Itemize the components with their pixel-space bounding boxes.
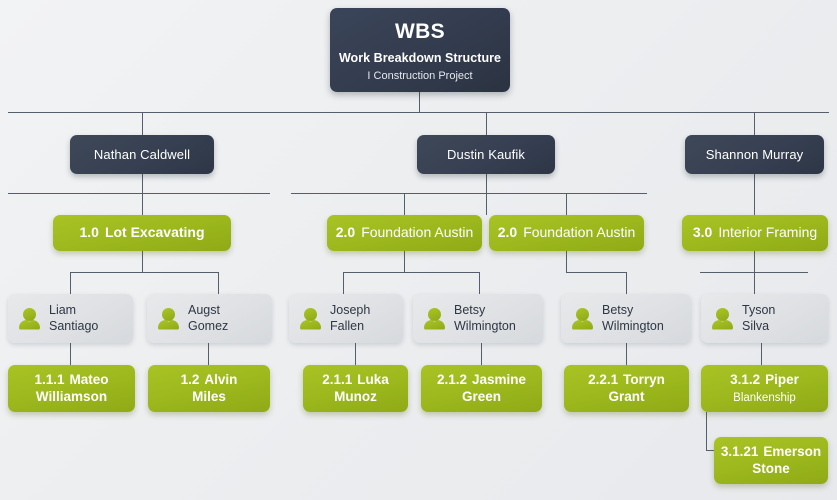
person-first-name: Betsy — [602, 303, 633, 317]
manager-name: Shannon Murray — [706, 147, 804, 163]
person-last-name: Wilmington — [602, 319, 664, 333]
task-text: 3.1.2Piper Blankenship — [730, 372, 799, 405]
person-name: Tyson Silva — [742, 303, 775, 334]
connector-person-bus-4 — [700, 272, 808, 273]
connector-person-to-task-4 — [481, 343, 482, 365]
phase-code: 2.0 — [498, 224, 517, 241]
node-manager-nathan-caldwell[interactable]: Nathan Caldwell — [70, 135, 214, 174]
task-last-name: Grant — [608, 389, 644, 404]
task-text: 2.1.2Jasmine Green — [437, 372, 526, 405]
connector-root-stem — [419, 92, 420, 113]
connector-person-bus-3 — [566, 272, 626, 273]
connector-person-bus-2 — [343, 272, 479, 273]
connector-drop-person-3 — [343, 272, 344, 294]
task-text: 3.1.21Emerson Stone — [721, 444, 821, 477]
task-first-name: Luka — [357, 372, 389, 387]
task-first-name: Alvin — [204, 372, 237, 387]
person-first-name: Augst — [188, 303, 220, 317]
task-first-name: Mateo — [70, 372, 109, 387]
person-first-name: Betsy — [454, 303, 485, 317]
phase-label: Foundation Austin — [361, 224, 473, 241]
node-phase-foundation-austin-1[interactable]: 2.0 Foundation Austin — [327, 215, 482, 251]
task-text: 1.2Alvin Miles — [181, 372, 238, 405]
root-caption: I Construction Project — [367, 70, 472, 83]
node-manager-dustin-kaufik[interactable]: Dustin Kaufik — [417, 135, 555, 174]
connector-level1-bus — [8, 112, 829, 113]
connector-drop-phase-3 — [566, 193, 567, 215]
card-person-betsy-wilmington-1[interactable]: Betsy Wilmington — [413, 294, 543, 343]
connector-drop-manager-3 — [754, 112, 755, 135]
task-first-name: Piper — [765, 372, 799, 387]
person-name: Liam Santiago — [49, 303, 98, 334]
root-subtitle: Work Breakdown Structure — [339, 51, 501, 66]
node-root-wbs[interactable]: WBS Work Breakdown Structure I Construct… — [330, 8, 510, 92]
connector-stem-manager-2 — [486, 174, 487, 215]
task-first-name: Jasmine — [472, 372, 526, 387]
task-code: 3.1.2 — [730, 372, 760, 387]
connector-drop-manager-2 — [486, 112, 487, 135]
person-first-name: Joseph — [330, 303, 370, 317]
person-name: Augst Gomez — [188, 303, 228, 334]
node-task-alvin-miles[interactable]: 1.2Alvin Miles — [148, 365, 270, 412]
task-text: 2.2.1Torryn Grant — [588, 372, 665, 405]
connector-drop-person-5 — [626, 272, 627, 294]
connector-stem-phase-3 — [566, 251, 567, 272]
person-last-name: Wilmington — [454, 319, 516, 333]
connector-stem-manager-1 — [142, 174, 143, 215]
person-avatar-icon — [19, 308, 40, 330]
node-phase-interior-framing[interactable]: 3.0 Interior Framing — [682, 215, 828, 251]
connector-stem-phase-1 — [142, 251, 143, 272]
task-code: 2.1.2 — [437, 372, 467, 387]
task-last-name: Williamson — [36, 389, 107, 404]
person-avatar-icon — [572, 308, 593, 330]
connector-stem-manager-3 — [754, 174, 755, 215]
phase-label: Interior Framing — [718, 224, 817, 241]
node-task-luka-munoz[interactable]: 2.1.1Luka Munoz — [303, 365, 408, 412]
task-last-name: Stone — [752, 461, 790, 476]
task-text: 2.1.1Luka Munoz — [322, 372, 389, 405]
task-code: 1.2 — [181, 372, 200, 387]
connector-person-bus-1 — [70, 272, 218, 273]
node-phase-foundation-austin-2[interactable]: 2.0 Foundation Austin — [489, 215, 644, 251]
person-last-name: Gomez — [188, 319, 228, 333]
person-name: Betsy Wilmington — [602, 303, 664, 334]
node-task-mateo-williamson[interactable]: 1.1.1Mateo Williamson — [8, 365, 135, 412]
connector-phase-bus-left — [8, 193, 270, 194]
person-name: Joseph Fallen — [330, 303, 370, 334]
task-last-name: Blankenship — [733, 392, 796, 404]
task-code: 1.1.1 — [34, 372, 64, 387]
task-last-name: Miles — [192, 389, 226, 404]
card-person-tyson-silva[interactable]: Tyson Silva — [701, 294, 828, 343]
node-manager-shannon-murray[interactable]: Shannon Murray — [685, 135, 824, 174]
connector-person-to-task-3 — [355, 343, 356, 365]
manager-name: Dustin Kaufik — [447, 147, 525, 163]
person-name: Betsy Wilmington — [454, 303, 516, 334]
card-person-augst-gomez[interactable]: Augst Gomez — [147, 294, 272, 343]
person-last-name: Santiago — [49, 319, 98, 333]
connector-person-to-task-2 — [208, 343, 209, 365]
person-last-name: Silva — [742, 319, 769, 333]
task-last-name: Munoz — [334, 389, 377, 404]
task-last-name: Green — [462, 389, 501, 404]
connector-drop-person-4 — [479, 272, 480, 294]
card-person-joseph-fallen[interactable]: Joseph Fallen — [289, 294, 403, 343]
person-first-name: Liam — [49, 303, 76, 317]
connector-drop-manager-1 — [142, 112, 143, 135]
node-task-emerson-stone[interactable]: 3.1.21Emerson Stone — [714, 437, 828, 484]
connector-stem-phase-2 — [404, 251, 405, 272]
task-first-name: Torryn — [623, 372, 665, 387]
person-avatar-icon — [712, 308, 733, 330]
connector-person-to-task-1 — [70, 343, 71, 365]
card-person-betsy-wilmington-2[interactable]: Betsy Wilmington — [561, 294, 691, 343]
connector-drop-phase-2 — [404, 193, 405, 215]
node-task-jasmine-green[interactable]: 2.1.2Jasmine Green — [421, 365, 542, 412]
person-avatar-icon — [158, 308, 179, 330]
phase-label: Foundation Austin — [523, 224, 635, 241]
connector-phase-bus-middle — [291, 193, 647, 194]
connector-person-to-task-5 — [626, 343, 627, 365]
node-task-torryn-grant[interactable]: 2.2.1Torryn Grant — [564, 365, 689, 412]
task-code: 2.1.1 — [322, 372, 352, 387]
person-first-name: Tyson — [742, 303, 775, 317]
node-task-piper-blankenship[interactable]: 3.1.2Piper Blankenship — [701, 365, 828, 412]
root-title: WBS — [395, 19, 445, 45]
phase-label: Lot Excavating — [105, 224, 205, 241]
phase-code: 2.0 — [336, 224, 355, 241]
phase-code: 1.0 — [79, 224, 98, 241]
card-person-liam-santiago[interactable]: Liam Santiago — [8, 294, 133, 343]
task-code: 3.1.21 — [721, 444, 759, 459]
phase-code: 3.0 — [693, 224, 712, 241]
person-avatar-icon — [300, 308, 321, 330]
task-first-name: Emerson — [763, 444, 821, 459]
connector-drop-person-2 — [218, 272, 219, 294]
connector-drop-person-1 — [70, 272, 71, 294]
task-code: 2.2.1 — [588, 372, 618, 387]
org-chart-canvas: WBS Work Breakdown Structure I Construct… — [0, 0, 837, 500]
connector-person-to-task-6 — [761, 343, 762, 365]
connector-elbow-vertical-emerson — [706, 412, 707, 450]
person-last-name: Fallen — [330, 319, 364, 333]
node-phase-lot-excavating[interactable]: 1.0 Lot Excavating — [53, 215, 231, 251]
manager-name: Nathan Caldwell — [94, 147, 190, 163]
person-avatar-icon — [424, 308, 445, 330]
task-text: 1.1.1Mateo Williamson — [34, 372, 108, 405]
